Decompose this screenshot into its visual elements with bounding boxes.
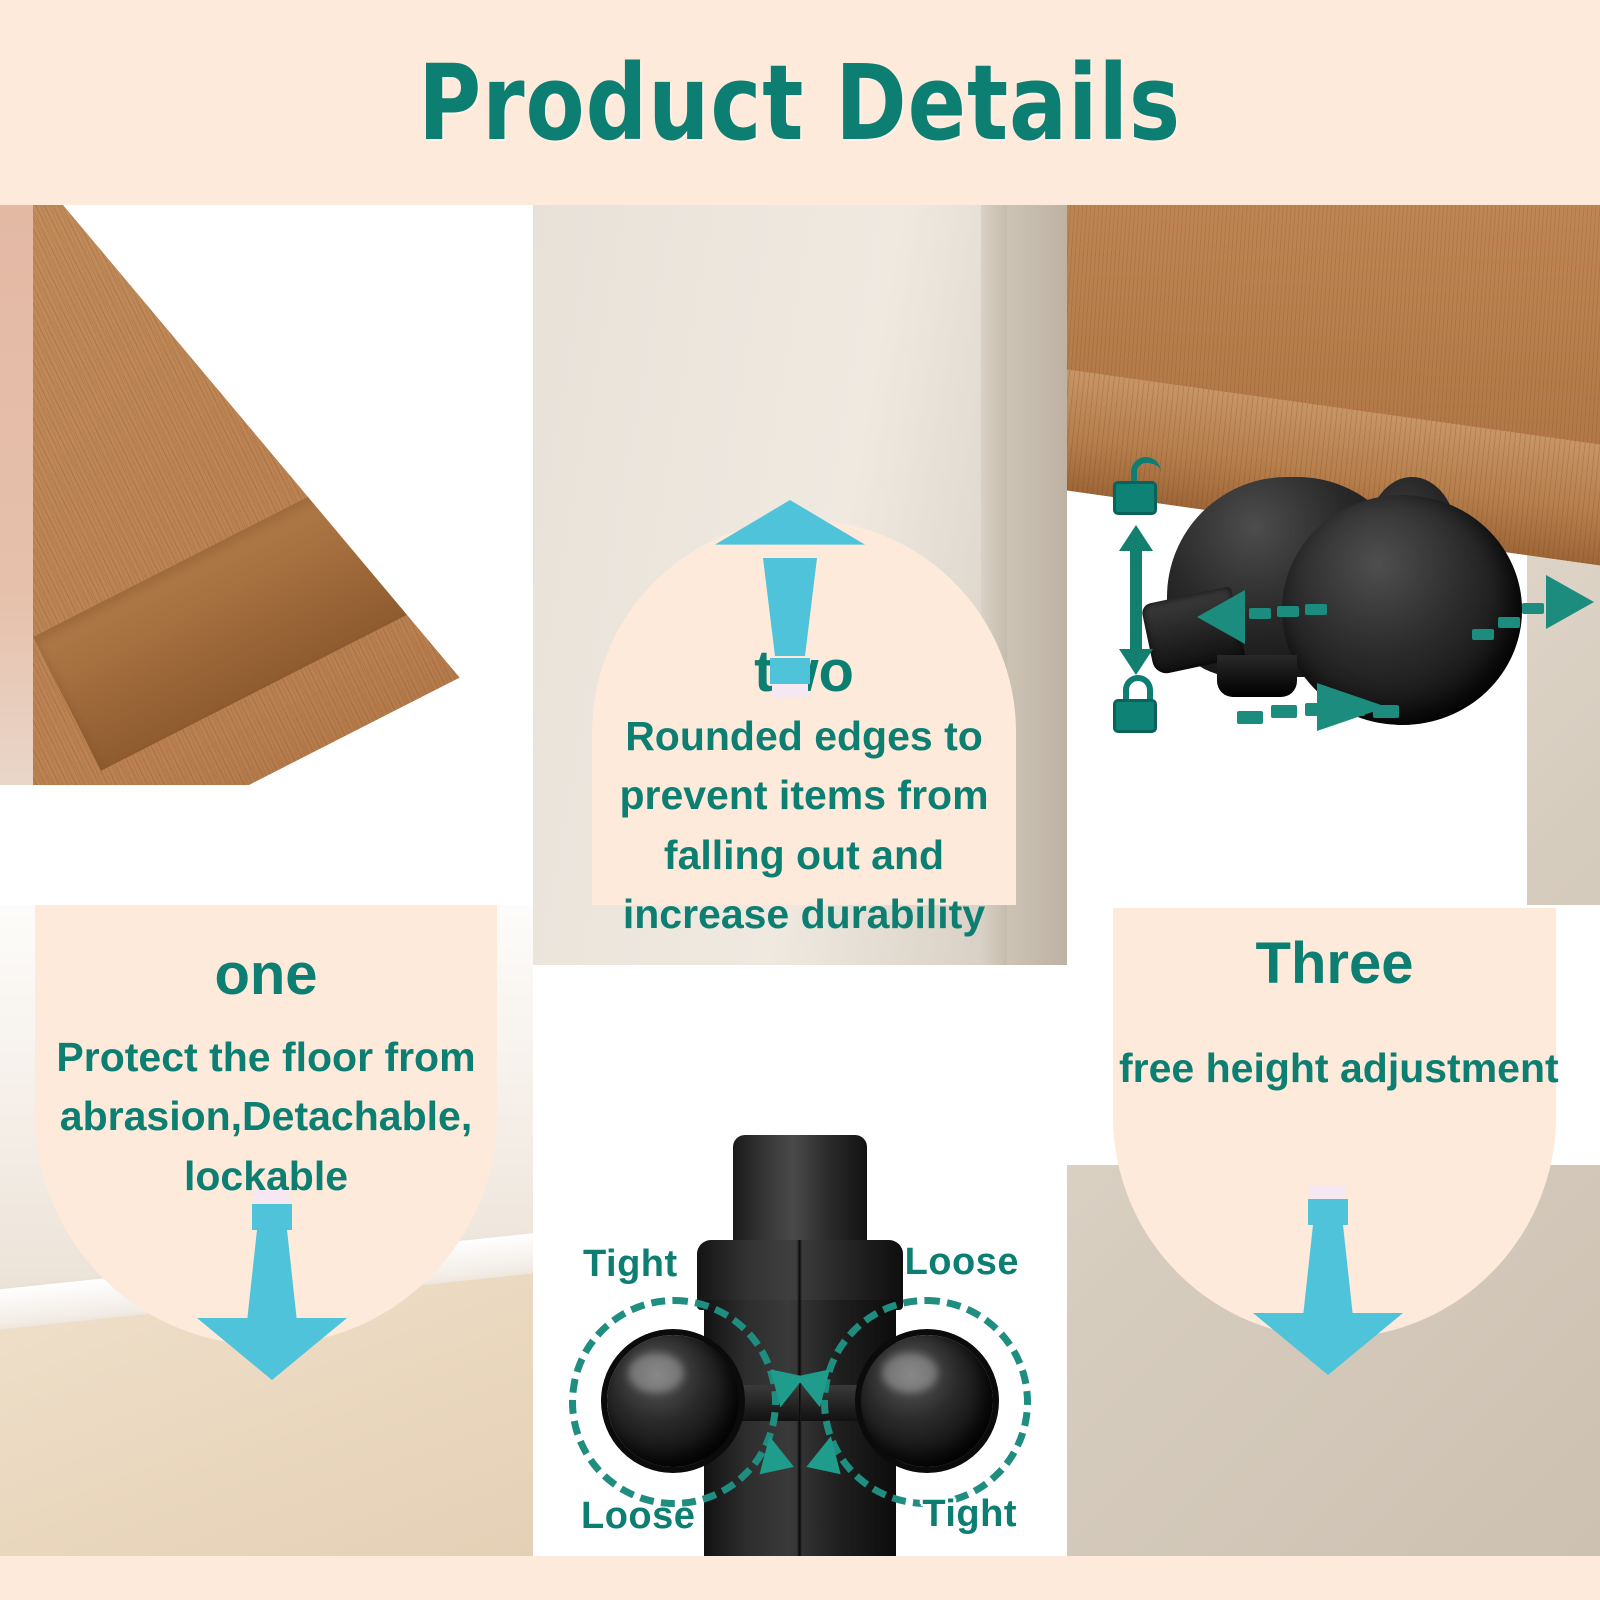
card-two-line-4: increase durability bbox=[608, 885, 1000, 944]
arrow-up-icon-two bbox=[715, 500, 865, 690]
card-one-line-2: abrasion,Detachable, bbox=[49, 1087, 483, 1146]
arrow-up-icon-right-knob: ▲ bbox=[792, 1415, 863, 1486]
page-title: Product Details bbox=[419, 42, 1182, 164]
arrow-down-icon-one bbox=[197, 1190, 347, 1380]
knob-label-tight-bottom-right: Tight bbox=[922, 1493, 1017, 1536]
photo-white-lower bbox=[0, 785, 533, 905]
vertical-double-arrow-icon bbox=[1119, 525, 1153, 675]
card-one-number: one bbox=[35, 945, 497, 1006]
card-two-line-1: Rounded edges to bbox=[608, 707, 1000, 766]
knob-label-loose-top-right: Loose bbox=[905, 1241, 1019, 1284]
card-two-text: Rounded edges to prevent items from fall… bbox=[592, 707, 1016, 945]
knob-label-tight-top-left: Tight bbox=[583, 1243, 678, 1286]
unlocked-padlock-icon bbox=[1111, 457, 1161, 519]
inner-tube bbox=[733, 1135, 867, 1255]
wood-tabletop-corner-photo bbox=[0, 205, 533, 905]
arrow-down-icon-right-knob: ▼ bbox=[780, 1351, 851, 1422]
page-footer-band bbox=[0, 1556, 1600, 1600]
page-header: Product Details bbox=[0, 0, 1600, 205]
arrow-down-icon-three bbox=[1253, 1185, 1403, 1375]
card-one-text: Protect the floor from abrasion,Detachab… bbox=[35, 1028, 497, 1206]
card-one-line-1: Protect the floor from bbox=[49, 1028, 483, 1087]
card-two-line-2: prevent items from bbox=[608, 766, 1000, 825]
card-three-text: free height adjustment bbox=[1113, 1039, 1556, 1098]
knob-label-loose-bottom-left: Loose bbox=[581, 1495, 695, 1538]
card-two-line-3: falling out and bbox=[608, 826, 1000, 885]
card-three-number: Three bbox=[1113, 934, 1556, 995]
wall-right-face bbox=[1007, 205, 1067, 995]
locked-padlock-icon bbox=[1111, 675, 1161, 737]
rotation-arc-arrowhead-icon bbox=[1317, 683, 1387, 731]
